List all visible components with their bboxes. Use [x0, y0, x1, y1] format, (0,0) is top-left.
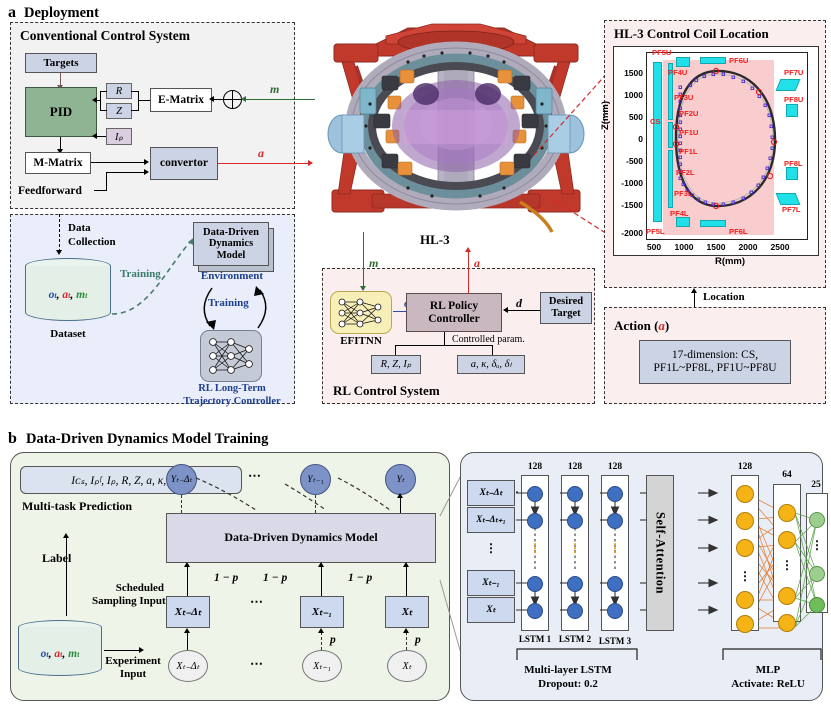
rz-to-pid-line [97, 100, 101, 101]
x2-up-line [406, 632, 407, 650]
self-attention-block: Self-Attention [646, 475, 674, 631]
coil-label-pf1u: PF1U [679, 128, 698, 137]
y2-link [400, 497, 401, 513]
cp-hline [395, 345, 493, 346]
a-label-rl: a [474, 256, 480, 271]
coil-xtick-4: 2500 [766, 242, 794, 252]
mlp0-node-1 [736, 512, 754, 530]
m-matrix-box[interactable]: M-Matrix [25, 152, 91, 174]
coil-label-pf3l: PF3L [674, 189, 693, 198]
panel-a-letter: a [8, 4, 16, 22]
lstm1-node-1 [567, 513, 583, 529]
lstm-name-0: LSTM 1 [515, 634, 555, 644]
conventional-heading: Conventional Control System [20, 28, 190, 44]
coil-xtick-0: 500 [640, 242, 668, 252]
coil-xtick-3: 2000 [734, 242, 762, 252]
coil-ytick-1: 1000 [619, 90, 643, 100]
environment-label: Environment [186, 270, 278, 282]
variable-z-box: Z [106, 103, 132, 119]
lstm2-node-3 [607, 603, 623, 619]
coil-ytick-7: -2000 [615, 228, 643, 238]
location-vline [694, 293, 695, 307]
dataset-b-vars: ot, at, mt [18, 648, 102, 660]
lstm0-ellipsis: ⋮ [521, 545, 549, 551]
experiment-input-line [104, 650, 140, 651]
coil-label-pf2u: PF2U [679, 109, 698, 118]
d-line [508, 310, 540, 311]
x-node-2: Xₜ [387, 650, 427, 682]
mlp-caption: MLP [705, 664, 831, 676]
coil-label-pf4u: PF4U [668, 68, 687, 77]
panel-a-title: Deployment [24, 5, 99, 22]
coil-label-pf5l: PF5L [646, 227, 665, 236]
p-label-2: p [415, 634, 421, 646]
ff-to-convertor-arrow [144, 169, 149, 175]
lstm2-node-0 [607, 486, 623, 502]
targets-box[interactable]: Targets [25, 53, 97, 73]
ip-to-pid-line [97, 136, 106, 137]
xss0-up-arrow [184, 562, 190, 567]
ematrix-to-rz-line [138, 100, 150, 101]
one-minus-p-1: 1 − p [263, 572, 287, 584]
panel-b-title: Data-Driven Dynamics Model Training [26, 431, 268, 448]
xss1-up-arrow [318, 562, 324, 567]
one-minus-p-2: 1 − p [348, 572, 372, 584]
mmatrix-to-convertor-arrow [144, 159, 149, 165]
sum-vline [232, 91, 233, 108]
label-arrow-head [63, 533, 69, 538]
dataset-label: Dataset [25, 328, 111, 340]
controlled-param-label: Controlled param. [452, 334, 525, 345]
m-input-vline [363, 232, 364, 288]
sum-to-ematrix-line [213, 99, 223, 100]
rz-bracket-top [100, 91, 107, 92]
action-content-box: 17-dimension: CS, PF1L~PF8L, PF1U~PF8U [639, 340, 791, 384]
coil-ylabel: Z(mm) [600, 101, 611, 130]
multitask-caption: Multi-task Prediction [22, 499, 132, 514]
coil-heading: HL-3 Control Coil Location [614, 26, 769, 42]
xss-ellipsis: ⋯ [250, 594, 263, 610]
coil-label-pf7u: PF7U [784, 68, 803, 77]
mlp0-node-0 [736, 485, 754, 503]
ddm-wide-box[interactable]: Data-Driven Dynamics Model [166, 513, 436, 563]
lstm0-node-2 [527, 576, 543, 592]
panel-b-letter: b [8, 430, 17, 448]
lstm1-node-0 [567, 486, 583, 502]
data-collection-arrow [56, 250, 62, 255]
training-label-2: Training [208, 297, 249, 309]
a-label-a: a [258, 146, 264, 161]
mlp0-node-2 [736, 539, 754, 557]
coil-xtick-1: 1000 [670, 242, 698, 252]
action-heading: Action (a) [614, 318, 669, 334]
coil-label-pf8u: PF8U [784, 95, 803, 104]
rl-controller-label: RL Long-Term Trajectory Controller [178, 383, 286, 408]
cp-vline [444, 332, 445, 346]
desired-target-box[interactable]: Desired Target [540, 292, 592, 324]
coil-ytick-5: -1000 [615, 178, 643, 188]
a-output-line [218, 163, 310, 164]
coil-label-pf6u: PF6U [729, 56, 748, 65]
controlled-output-1: R, Z, Iₚ [371, 355, 421, 374]
mlp0-node-4 [736, 615, 754, 633]
scheduled-sampling-label: Scheduled Sampling Input [92, 582, 164, 608]
self-attention-label: Self-Attention [653, 512, 668, 594]
tokamak-label: HL-3 [420, 232, 450, 248]
xss2-up-arrow [403, 562, 409, 567]
coil-ytick-2: 500 [619, 112, 643, 122]
lstm0-node-1 [527, 513, 543, 529]
coil-label-pf4l: PF4L [670, 209, 689, 218]
coil-ytick-6: -1500 [615, 200, 643, 210]
xss0-up-line [187, 567, 188, 596]
ddm-box[interactable]: Data-Driven Dynamics Model [193, 222, 269, 266]
mlp2-node-0 [809, 512, 825, 528]
coil-label-pf8l: PF8L [784, 159, 803, 168]
mlp2-node-1 [809, 566, 825, 582]
d-arrow [503, 307, 508, 313]
coil-xtick-2: 1500 [702, 242, 730, 252]
efitnn-label: EFITNN [330, 335, 392, 347]
ip-to-pid-arrow [92, 133, 97, 139]
rz-to-pid-arrow [92, 97, 97, 103]
xss-box-1: Xₜ₋₁ [300, 596, 344, 628]
mlp0-node-3 [736, 591, 754, 609]
xss-box-0: Xₜ₋Δₜ [166, 596, 210, 628]
dataset-vars: ot, at, mt [25, 289, 111, 301]
lstm-name-1: LSTM 2 [555, 634, 595, 644]
action-heading-prefix: Action ( [614, 318, 658, 333]
lstm-caption: Multi-layer LSTM [498, 664, 638, 676]
ff-line-h2 [106, 172, 145, 173]
coil-label-pf5u: PF5U [652, 48, 671, 57]
x-node-0: Xₜ₋Δₜ [168, 650, 208, 682]
lstm1-node-2 [567, 576, 583, 592]
neural-net-icon-2 [333, 294, 389, 332]
label-text: Label [42, 551, 71, 566]
lstm2-node-1 [607, 513, 623, 529]
rl-policy-controller-box[interactable]: RL Policy Controller [406, 293, 502, 332]
bottom-brackets [515, 646, 825, 662]
mlp1-ellipsis: ⋮ [773, 562, 801, 568]
y-feedback-curves [190, 466, 400, 516]
x0-up-arrow [184, 628, 190, 633]
mlp2-ellipsis: ⋮ [806, 542, 828, 548]
neural-net-icon-1 [203, 333, 259, 379]
mlp2-node-2 [809, 597, 825, 613]
coil-label-cs: CS [650, 117, 661, 126]
d-label: d [516, 296, 522, 311]
coil-ytick-0: 1500 [619, 68, 643, 78]
y0-link [181, 495, 182, 513]
coil-label-pf3u: PF3U [674, 93, 693, 102]
lstm0-node-0 [527, 486, 543, 502]
lstm1-node-3 [567, 603, 583, 619]
variable-ip-box: Iₚ [106, 128, 132, 145]
m-input-line [243, 99, 315, 100]
mlp1-node-2 [778, 587, 796, 605]
m-input-arrow [241, 96, 246, 102]
mlp1-node-1 [778, 531, 796, 549]
mlp1-node-0 [778, 504, 796, 522]
xss2-up-line [406, 567, 407, 596]
xss-box-2: Xₜ [385, 596, 429, 628]
x2-up-arrow [403, 628, 409, 633]
mlp-activate: Activate: ReLU [705, 678, 831, 690]
ff-line-v [106, 172, 107, 191]
rz-bracket-right-bot [131, 110, 139, 111]
x1-up-arrow [318, 628, 324, 633]
x-node-1: Xₜ₋₁ [302, 650, 342, 682]
a-output-vline [468, 252, 469, 294]
rz-bracket-right-top [131, 91, 139, 92]
experiment-input-arrow [139, 647, 144, 653]
y-ellipsis: ⋯ [248, 468, 261, 484]
a-output-up-arrow [465, 247, 471, 252]
sum-to-ematrix-arrow [209, 96, 214, 102]
coil-ytick-4: -500 [615, 156, 643, 166]
lstm-dropout: Dropout: 0.2 [498, 678, 638, 690]
feedforward-label: Feedforward [18, 185, 82, 197]
x-ellipsis: ⋯ [250, 656, 263, 672]
convertor-box[interactable]: convertor [150, 147, 218, 180]
variable-r-box: R [106, 83, 132, 99]
m-label-a: m [270, 82, 279, 97]
pid-box[interactable]: PID [25, 87, 97, 137]
label-arrow-line [66, 538, 67, 616]
mlp1-node-3 [778, 614, 796, 632]
mlp0-ellipsis: ⋮ [731, 573, 759, 579]
rl-control-heading: RL Control System [333, 383, 440, 399]
rz-bracket-bot [100, 110, 107, 111]
p-label-1: p [330, 634, 336, 646]
coil-ytick-3: 0 [619, 134, 643, 144]
experiment-input-label: Experiment Input [102, 655, 164, 681]
coil-label-pf1l: PF1L [679, 147, 698, 156]
xss1-up-line [321, 567, 322, 596]
training-label-1: Training [120, 268, 161, 280]
lstm2-node-2 [607, 576, 623, 592]
action-heading-suffix: ) [665, 318, 669, 333]
coil-xlabel: R(mm) [680, 256, 780, 267]
one-minus-p-0: 1 − p [214, 572, 238, 584]
controlled-output-2: a, κ, δᵤ, δₗ [457, 355, 525, 374]
x0-up-line [187, 632, 188, 650]
lstm2-ellipsis: ⋮ [601, 545, 629, 551]
coil-label-pf6l: PF6L [729, 227, 748, 236]
m-label-rl: m [369, 256, 378, 271]
coil-label-pf2l: PF2L [676, 168, 695, 177]
x1-up-line [321, 632, 322, 650]
lstm0-node-3 [527, 603, 543, 619]
lstm1-ellipsis: ⋮ [561, 545, 589, 551]
mmatrix-to-convertor-line [91, 162, 145, 163]
location-arrow [691, 288, 697, 293]
location-label: Location [703, 291, 745, 303]
e-matrix-box[interactable]: E-Matrix [150, 88, 212, 112]
coil-label-pf7l: PF7L [782, 205, 801, 214]
data-collection-line [59, 214, 60, 252]
lstm-name-2: LSTM 3 [595, 636, 635, 646]
training-loop-arrows [196, 284, 274, 334]
